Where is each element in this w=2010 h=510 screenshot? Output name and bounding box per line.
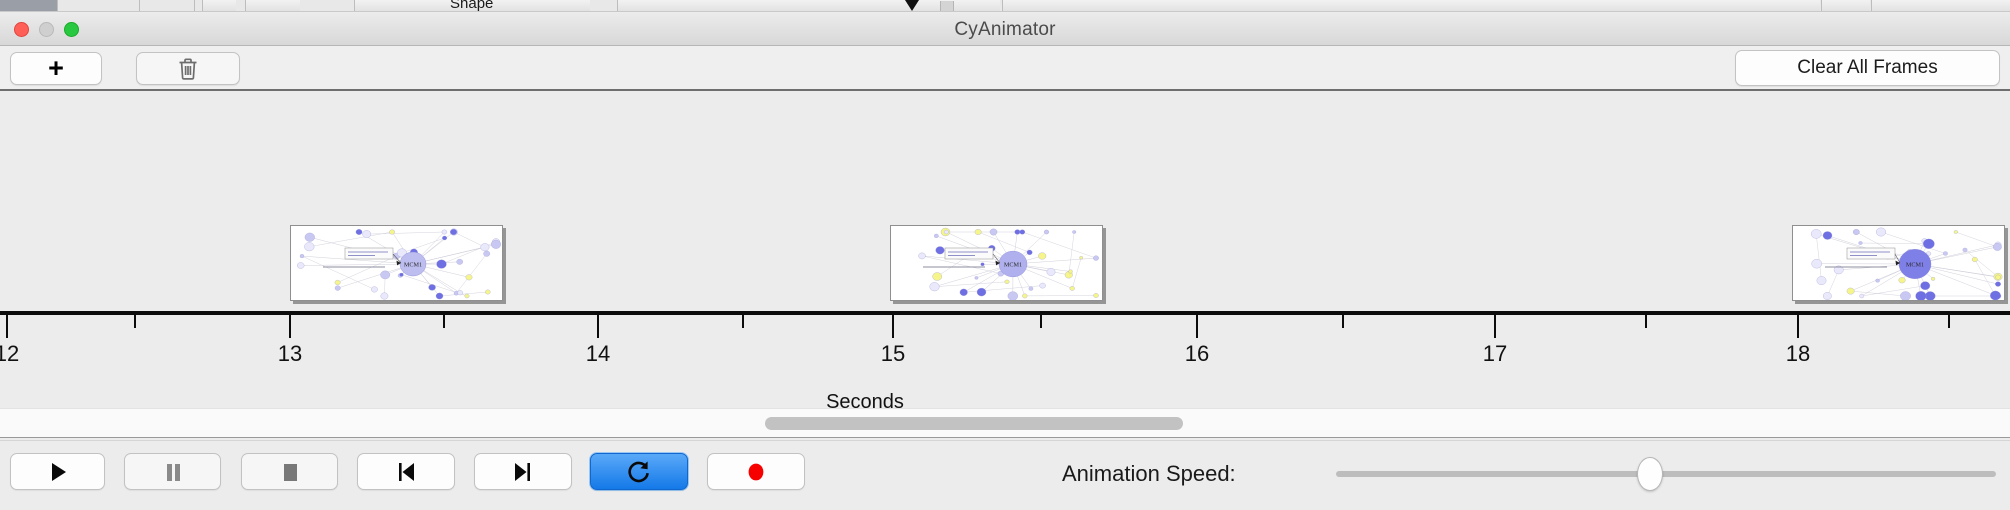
bg-tab — [590, 0, 618, 12]
bg-tab — [236, 0, 246, 12]
ruler-tick-minor — [1645, 315, 1647, 328]
bg-tab — [58, 0, 140, 12]
ruler-tick-minor — [742, 315, 744, 328]
slider-thumb[interactable] — [1637, 457, 1663, 491]
loop-icon — [625, 458, 653, 486]
ruler-tick-label: 18 — [1786, 341, 1810, 367]
ruler-tick-label: 17 — [1483, 341, 1507, 367]
svg-text:MCM1: MCM1 — [1004, 262, 1022, 269]
stop-icon — [277, 459, 303, 485]
frame-toolbar: + Clear All Frames — [0, 46, 2010, 91]
background-window-strip: Shape — [0, 0, 2010, 12]
plus-icon: + — [48, 55, 64, 82]
ruler-tick-major — [6, 315, 8, 338]
ruler-tick-minor — [443, 315, 445, 328]
svg-text:MCM1: MCM1 — [404, 262, 422, 269]
ruler-axis-title: Seconds — [0, 391, 2010, 408]
record-icon — [743, 459, 769, 485]
animation-speed-label: Animation Speed: — [1062, 461, 1236, 487]
skip-start-button[interactable] — [357, 453, 455, 490]
pause-icon — [160, 459, 186, 485]
ruler-tick-minor — [1342, 315, 1344, 328]
stop-button[interactable] — [241, 453, 338, 490]
bg-tab — [1870, 0, 1872, 12]
bg-tab — [140, 0, 195, 12]
play-icon — [45, 459, 71, 485]
delete-frame-button[interactable] — [136, 52, 240, 85]
timeline-scrollbar[interactable] — [0, 408, 2010, 438]
bg-notch — [940, 1, 954, 12]
title-bar: CyAnimator — [0, 12, 2010, 46]
skip-end-icon — [510, 459, 536, 485]
clear-all-frames-label: Clear All Frames — [1797, 57, 1937, 79]
record-button[interactable] — [707, 453, 805, 490]
clear-all-frames-button[interactable]: Clear All Frames — [1735, 50, 2000, 86]
ruler-axis-title-text: Seconds — [826, 391, 904, 408]
player-controls-bar: Animation Speed: — [0, 440, 2010, 510]
ruler-tick-major — [1196, 315, 1198, 338]
ruler-tick-minor — [1040, 315, 1042, 328]
ruler-tick-label: 12 — [0, 341, 19, 367]
timeline-frame-thumbnail[interactable]: MCM1 — [290, 225, 503, 301]
skip-end-button[interactable] — [474, 453, 572, 490]
bg-tab — [195, 0, 203, 12]
timeline-panel[interactable]: MCM1 MCM1 MCM1 12131415161718 Seconds — [0, 93, 2010, 408]
loop-button[interactable] — [590, 453, 688, 490]
ruler-baseline — [0, 311, 2010, 315]
skip-start-icon — [393, 459, 419, 485]
add-frame-button[interactable]: + — [10, 52, 102, 85]
pause-button[interactable] — [124, 453, 221, 490]
timeline-frame-thumbnail[interactable]: MCM1 — [1792, 225, 2005, 301]
svg-text:MCM1: MCM1 — [1906, 262, 1924, 269]
ruler-tick-label: 14 — [586, 341, 610, 367]
window-title: CyAnimator — [0, 19, 2010, 41]
bg-tab-dark — [0, 0, 58, 12]
bg-wedge-icon — [905, 0, 919, 11]
ruler-tick-major — [1494, 315, 1496, 338]
slider-track[interactable] — [1336, 471, 1996, 477]
ruler-tick-major — [597, 315, 599, 338]
bg-tab — [300, 0, 355, 12]
bg-tab — [1820, 0, 1822, 12]
ruler-tick-major — [1797, 315, 1799, 338]
timeline-frame-thumbnail[interactable]: MCM1 — [890, 225, 1103, 301]
ruler-tick-major — [289, 315, 291, 338]
timeline-ruler[interactable]: 12131415161718 Seconds — [0, 311, 2010, 408]
ruler-tick-label: 16 — [1185, 341, 1209, 367]
ruler-tick-major — [892, 315, 894, 338]
ruler-tick-minor — [134, 315, 136, 328]
animation-speed-slider[interactable] — [1336, 471, 1996, 477]
ruler-tick-minor — [1948, 315, 1950, 328]
cyanimator-window: Shape CyAnimator + Clear All Fra — [0, 0, 2010, 510]
timeline-scrollbar-thumb[interactable] — [765, 417, 1183, 430]
ruler-tick-label: 15 — [881, 341, 905, 367]
background-window-label: Shape — [450, 0, 493, 12]
trash-icon — [177, 57, 199, 81]
frames-area[interactable]: MCM1 MCM1 MCM1 — [0, 93, 2010, 311]
bg-tab — [1000, 0, 1003, 12]
play-button[interactable] — [10, 453, 105, 490]
ruler-tick-label: 13 — [278, 341, 302, 367]
